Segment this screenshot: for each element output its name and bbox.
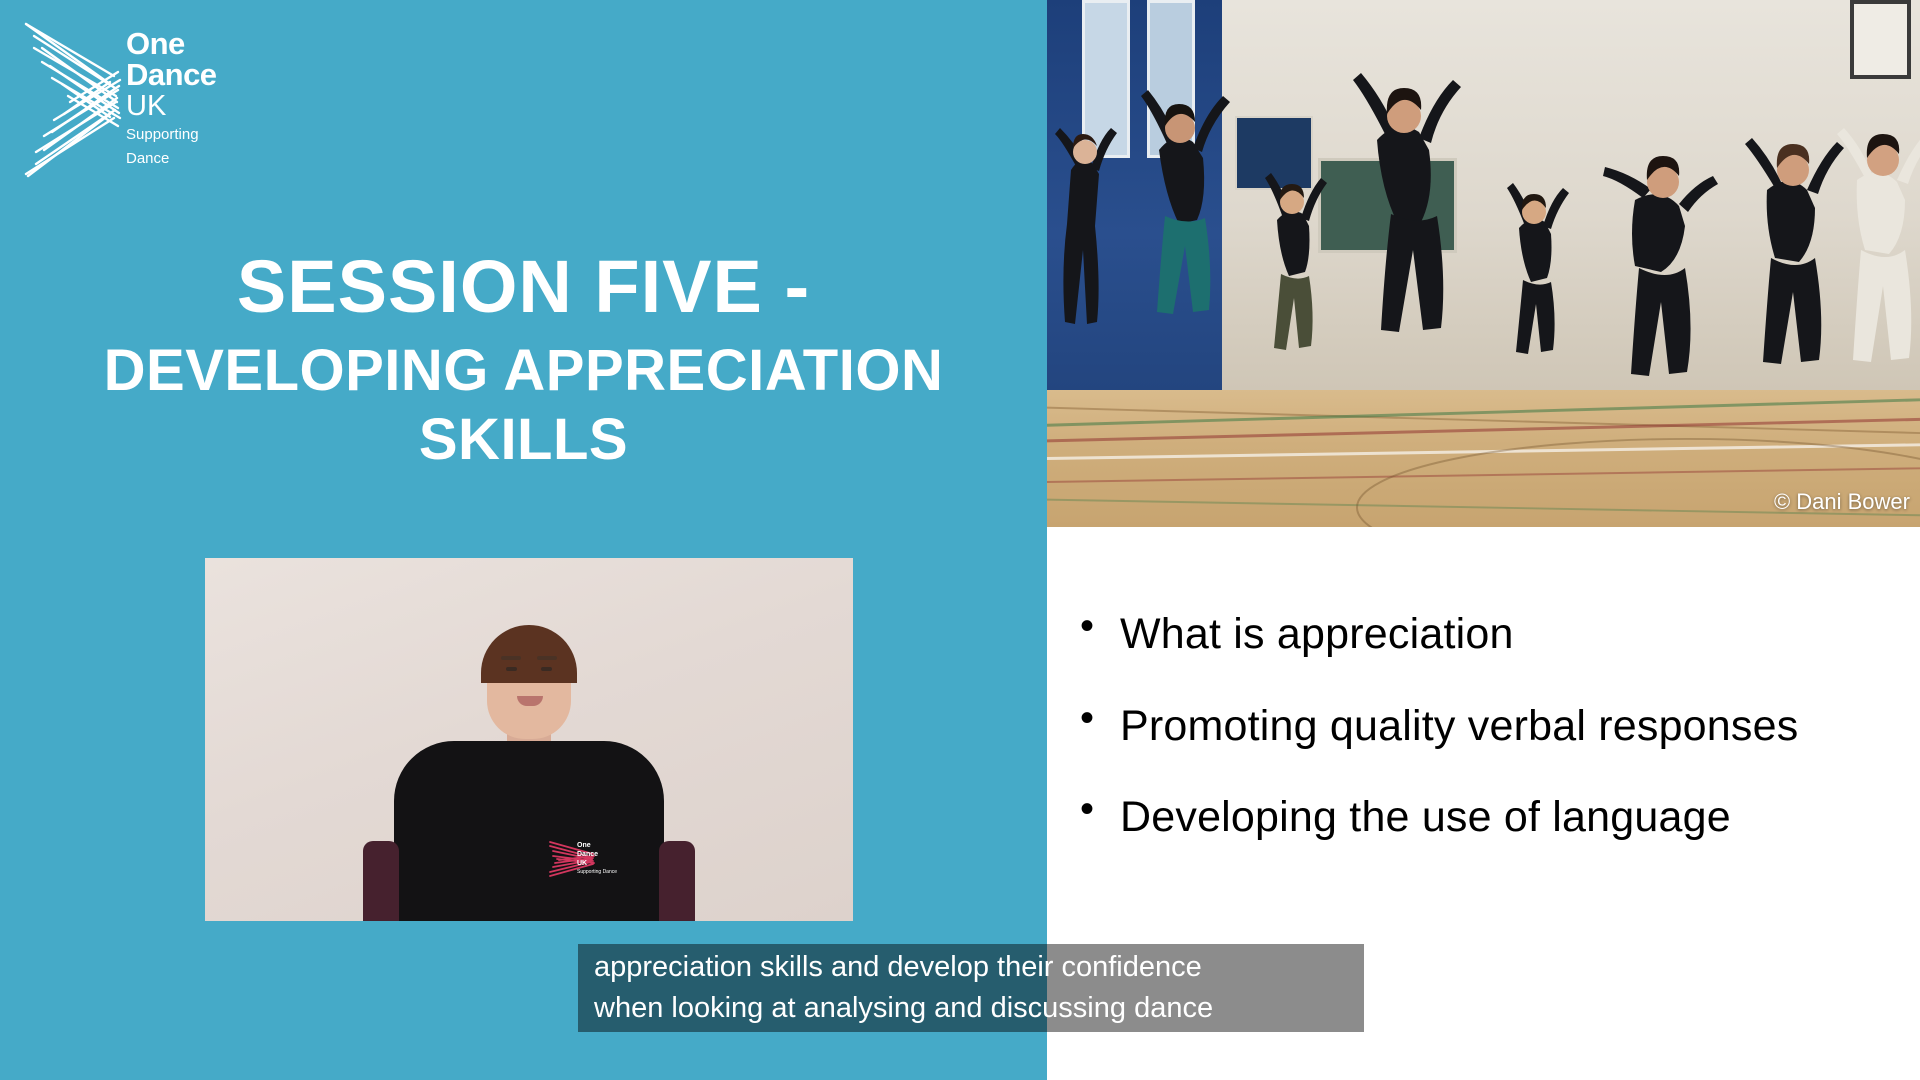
list-item: • Developing the use of language (1080, 783, 1910, 853)
presenter-sleeve-left (363, 841, 399, 921)
bullet-text: What is appreciation (1120, 600, 1514, 670)
video-caption-overlay: appreciation skills and develop their co… (578, 944, 1364, 1032)
presenter-sleeve-right (659, 841, 695, 921)
dance-class-photo: © Dani Bower (1047, 0, 1920, 527)
presenter-eye-left (506, 667, 517, 671)
tshirt-logo-sub: Supporting Dance (577, 869, 617, 875)
logo-line-dance: Dance (126, 59, 217, 90)
photo-dancers (1047, 0, 1920, 527)
chevron-mark-icon (22, 14, 130, 184)
tshirt-logo-text: One Dance UK Supporting Dance (577, 842, 617, 877)
presentation-slide: One Dance UK Supporting Dance SESSION FI… (0, 0, 1920, 1080)
presenter-video-thumbnail[interactable]: One Dance UK Supporting Dance (205, 558, 853, 921)
caption-line-2: when looking at analysing and discussing… (594, 988, 1364, 1029)
bullet-marker-icon: • (1080, 783, 1120, 835)
presenter-brow-left (501, 656, 521, 660)
list-item: • What is appreciation (1080, 600, 1910, 670)
slide-title-main: SESSION FIVE - (0, 248, 1047, 326)
bullet-text: Developing the use of language (1120, 783, 1731, 853)
logo-tagline-dance: Dance (126, 150, 217, 169)
presenter-tshirt (394, 741, 664, 921)
one-dance-uk-logo: One Dance UK Supporting Dance (22, 14, 272, 184)
presenter-eye-right (541, 667, 552, 671)
tshirt-logo-dance: Dance (577, 851, 598, 858)
bullet-marker-icon: • (1080, 600, 1120, 652)
photo-credit: © Dani Bower (1774, 489, 1910, 515)
list-item: • Promoting quality verbal responses (1080, 692, 1910, 762)
logo-line-uk: UK (126, 92, 217, 121)
caption-line-1: appreciation skills and develop their co… (594, 947, 1364, 988)
presenter-hair-top (481, 625, 577, 683)
tshirt-logo-uk: UK (577, 860, 587, 867)
bullet-list: • What is appreciation • Promoting quali… (1080, 600, 1910, 875)
presenter-brow-right (537, 656, 557, 660)
presenter-figure: One Dance UK Supporting Dance (205, 558, 853, 921)
bullet-text: Promoting quality verbal responses (1120, 692, 1798, 762)
slide-title-subtitle: DEVELOPING APPRECIATION SKILLS (0, 336, 1047, 475)
logo-line-one: One (126, 28, 217, 59)
slide-title-block: SESSION FIVE - DEVELOPING APPRECIATION S… (0, 248, 1047, 475)
bullet-marker-icon: • (1080, 692, 1120, 744)
logo-tagline-supporting: Supporting (126, 126, 217, 145)
tshirt-logo-one: One (577, 842, 591, 849)
logo-wordmark: One Dance UK Supporting Dance (126, 28, 217, 169)
